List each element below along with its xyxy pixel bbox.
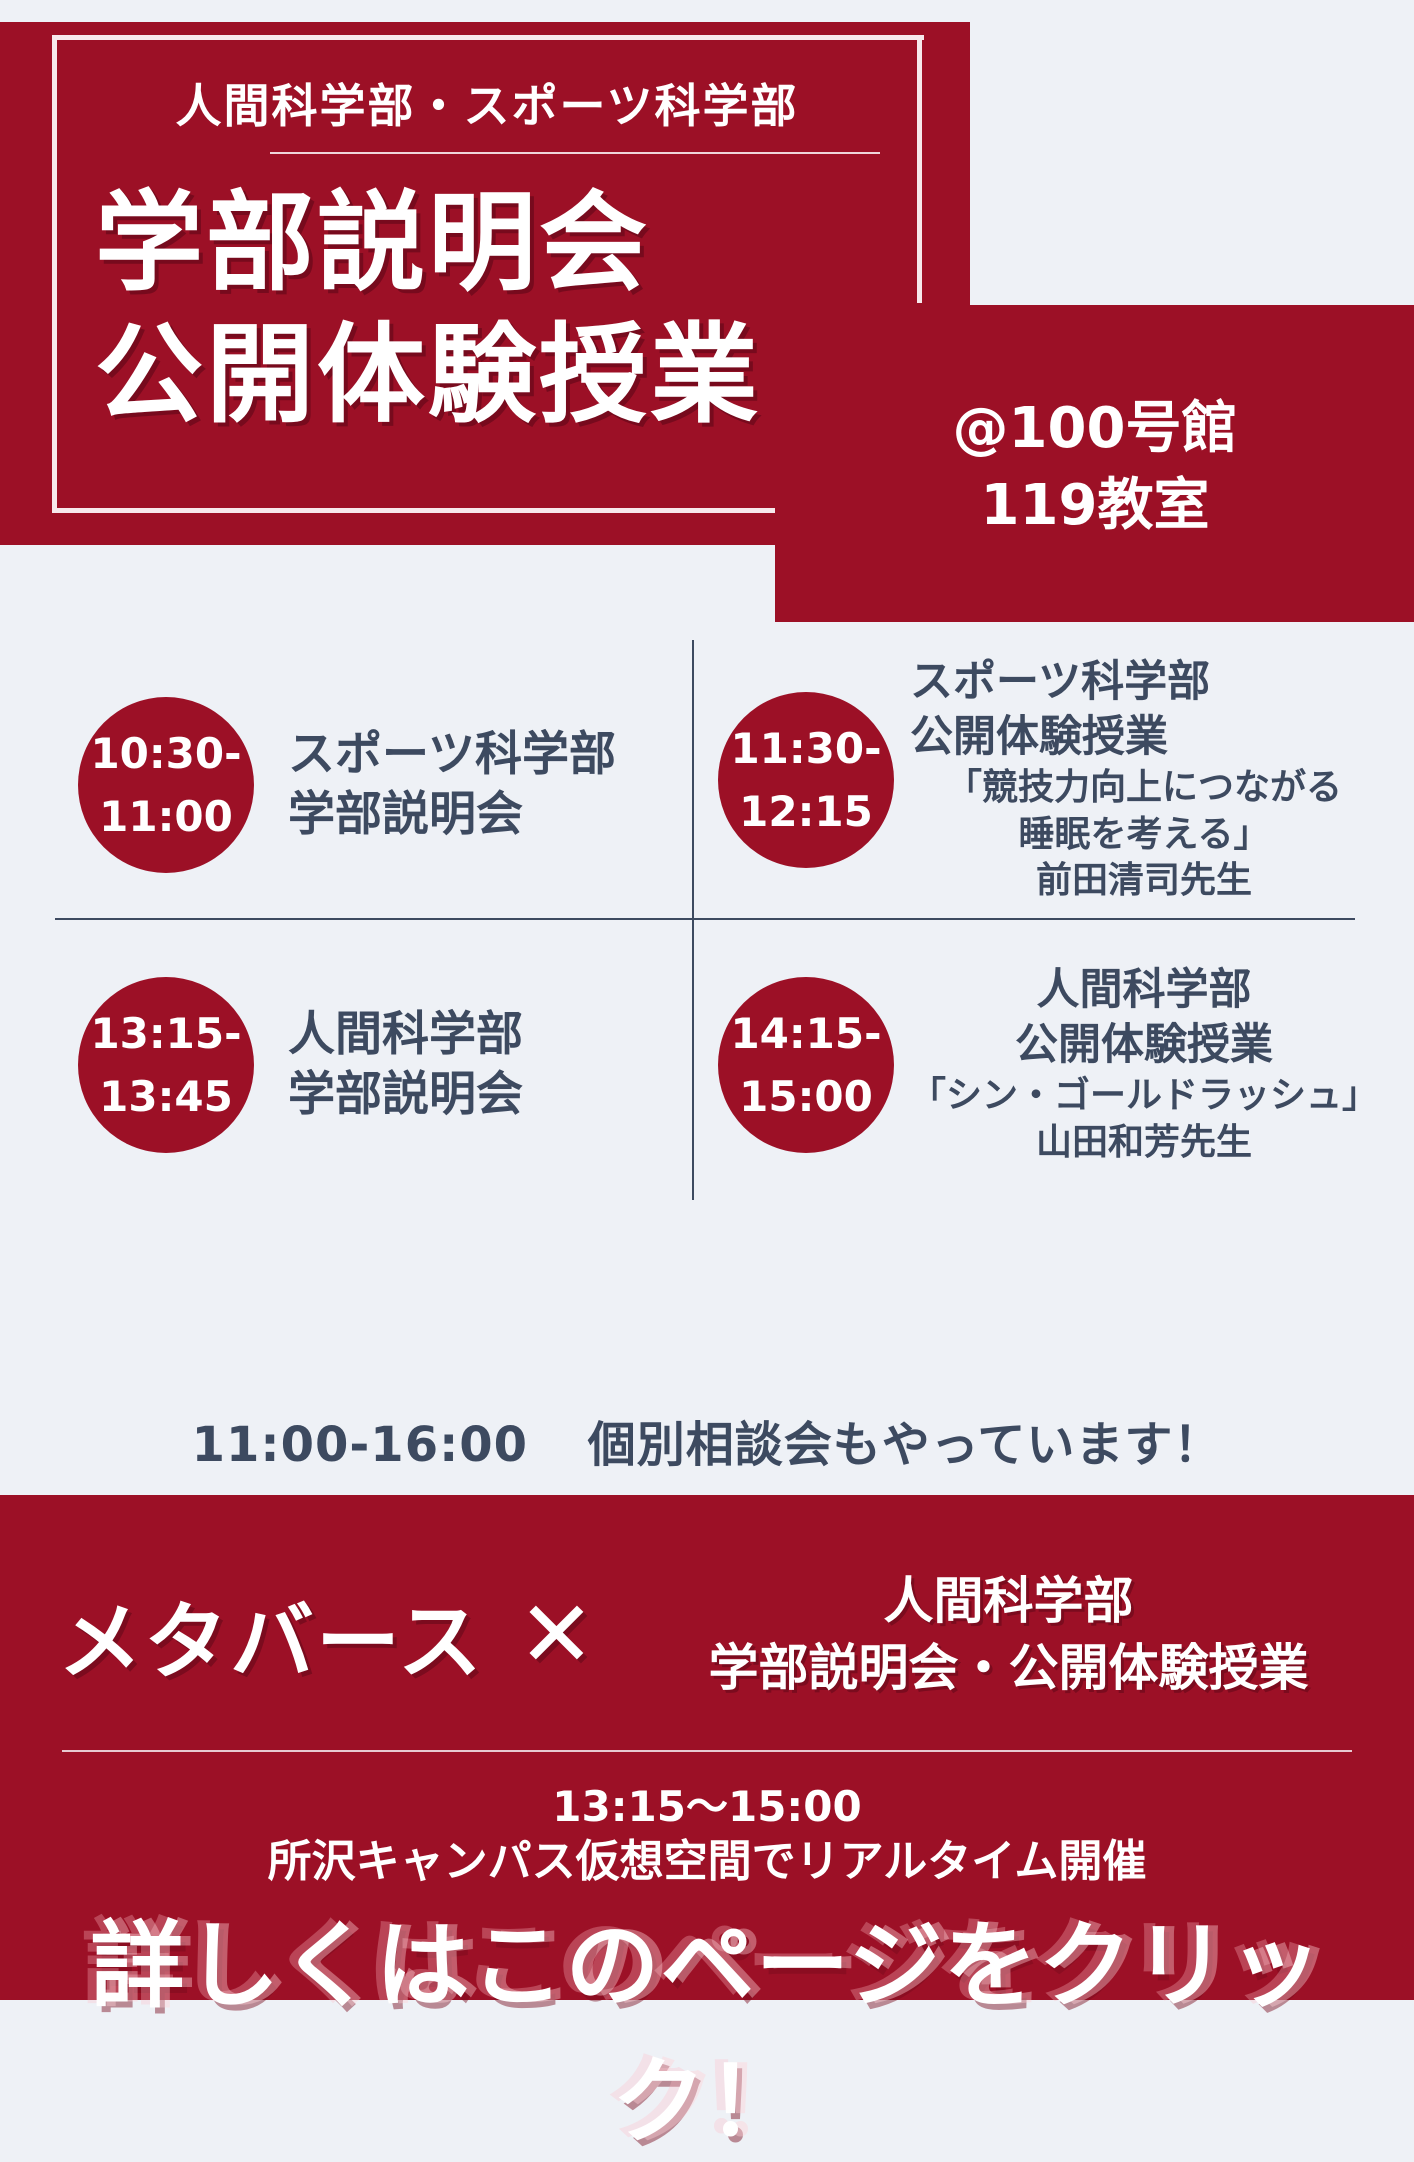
schedule-item-description: スポーツ科学部 学部説明会 <box>270 725 616 845</box>
schedule-item-3: 13:15- 13:45 人間科学部 学部説明会 <box>78 932 678 1198</box>
schedule-horizontal-divider <box>55 918 1355 920</box>
schedule-grid: 10:30- 11:00 スポーツ科学部 学部説明会 11:30- 12:15 … <box>0 640 1414 1200</box>
time-start: 14:15- <box>730 1002 881 1065</box>
schedule-item-description: 人間科学部 学部説明会 <box>270 1005 523 1125</box>
schedule-heading-line-2: 学部説明会 <box>288 1065 523 1125</box>
time-end: 13:45 <box>99 1065 233 1128</box>
time-end: 11:00 <box>99 785 233 848</box>
time-start: 13:15- <box>90 1002 241 1065</box>
metaverse-divider-rule <box>62 1750 1352 1752</box>
time-start: 10:30- <box>90 722 241 785</box>
cross-icon: ✕ <box>518 1589 595 1681</box>
schedule-heading-line-2: 学部説明会 <box>288 785 616 845</box>
time-start: 11:30- <box>730 717 881 780</box>
time-badge: 13:15- 13:45 <box>78 977 254 1153</box>
consultation-time: 11:00-16:00 <box>192 1417 529 1473</box>
consultation-note: 11:00-16:00 個別相談会もやっています！ <box>0 1405 1414 1475</box>
venue-line-2: 119教室 <box>790 467 1400 544</box>
metaverse-right-line-2: 学部説明会・公開体験授業 <box>629 1635 1388 1702</box>
schedule-item-description: スポーツ科学部 公開体験授業 「競技力向上につながる 睡眠を考える」 前田清司先… <box>910 655 1378 905</box>
time-badge: 11:30- 12:15 <box>718 692 894 868</box>
schedule-instructor: 前田清司先生 <box>910 858 1378 905</box>
schedule-instructor: 山田和芳先生 <box>910 1120 1378 1167</box>
schedule-subtitle-line-2: 睡眠を考える」 <box>910 812 1378 859</box>
metaverse-place: 所沢キャンパス仮想空間でリアルタイム開催 <box>0 1825 1414 1889</box>
metaverse-word: メタバース <box>58 1575 484 1696</box>
venue-label: @100号館 119教室 <box>790 390 1414 545</box>
schedule-vertical-divider <box>692 640 694 1200</box>
schedule-item-2: 11:30- 12:15 スポーツ科学部 公開体験授業 「競技力向上につながる … <box>718 642 1378 918</box>
schedule-item-description: 人間科学部 公開体験授業 「シン・ゴールドラッシュ」 山田和芳先生 <box>910 963 1378 1167</box>
schedule-subtitle-line-1: 「競技力向上につながる <box>910 765 1378 812</box>
schedule-item-1: 10:30- 11:00 スポーツ科学部 学部説明会 <box>78 652 678 918</box>
metaverse-headline-right: 人間科学部 学部説明会・公開体験授業 <box>629 1568 1414 1702</box>
schedule-heading-line-1: スポーツ科学部 <box>910 655 1378 710</box>
schedule-subtitle-line-1: 「シン・ゴールドラッシュ」 <box>910 1073 1378 1120</box>
metaverse-cta-link[interactable]: 詳しくはこのページをクリック！ <box>0 1890 1414 2162</box>
metaverse-right-line-1: 人間科学部 <box>629 1568 1388 1635</box>
header-kicker: 人間科学部・スポーツ科学部 <box>52 70 922 136</box>
schedule-heading-line-1: スポーツ科学部 <box>288 725 616 785</box>
schedule-heading-line-2: 公開体験授業 <box>910 1018 1378 1073</box>
time-badge: 14:15- 15:00 <box>718 977 894 1153</box>
schedule-item-4: 14:15- 15:00 人間科学部 公開体験授業 「シン・ゴールドラッシュ」 … <box>718 932 1378 1198</box>
time-badge: 10:30- 11:00 <box>78 697 254 873</box>
schedule-heading-line-1: 人間科学部 <box>910 963 1378 1018</box>
header-divider-rule <box>270 152 880 154</box>
page-title-line-1: 学部説明会 <box>95 178 925 310</box>
schedule-heading-line-1: 人間科学部 <box>288 1005 523 1065</box>
metaverse-section: メタバース ✕ 人間科学部 学部説明会・公開体験授業 13:15〜15:00 所… <box>0 1495 1414 2000</box>
time-end: 12:15 <box>739 780 873 843</box>
metaverse-headline-row: メタバース ✕ 人間科学部 学部説明会・公開体験授業 <box>0 1550 1414 1720</box>
poster-root: 人間科学部・スポーツ科学部 学部説明会 公開体験授業 @100号館 119教室 … <box>0 0 1414 2000</box>
schedule-heading-line-2: 公開体験授業 <box>910 710 1378 765</box>
venue-line-1: @100号館 <box>790 390 1400 467</box>
consultation-text: 個別相談会もやっています！ <box>588 1417 1223 1473</box>
time-end: 15:00 <box>739 1065 873 1128</box>
